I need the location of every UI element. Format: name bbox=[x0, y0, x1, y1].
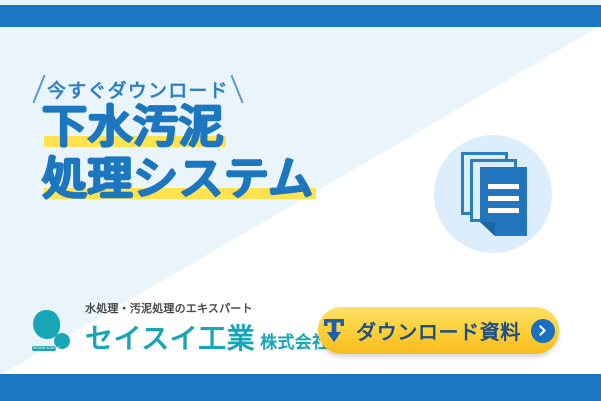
bottom-accent-bar bbox=[0, 374, 601, 401]
stacked-documents-icon bbox=[461, 152, 535, 236]
headline-line-1: 下水汚泥 bbox=[42, 104, 224, 150]
company-logo: SEISUI KOGYO 水処理・汚泥処理のエキスパート セイスイ工業 株式会社 bbox=[30, 300, 329, 357]
company-name-main: セイスイ工業 bbox=[85, 317, 255, 357]
download-banner: 今すぐダウンロード 下水汚泥 処理システム SEISUI KOGYO 水処理・汚… bbox=[0, 0, 601, 401]
logo-company-name: セイスイ工業 株式会社 bbox=[85, 317, 329, 357]
logo-tagline: 水処理・汚泥処理のエキスパート bbox=[85, 300, 329, 316]
logo-mark-caption: SEISUI KOGYO bbox=[33, 346, 60, 351]
logo-text-block: 水処理・汚泥処理のエキスパート セイスイ工業 株式会社 bbox=[85, 300, 329, 357]
headline: 下水汚泥 処理システム bbox=[42, 104, 314, 208]
headline-row-2: 処理システム bbox=[42, 156, 314, 202]
chevron-right-icon bbox=[531, 319, 555, 343]
download-cta-button[interactable]: ダウンロード資料 bbox=[318, 307, 559, 354]
top-accent-bar bbox=[0, 5, 601, 27]
headline-row-1: 下水汚泥 bbox=[42, 104, 224, 150]
eyebrow-label: 今すぐダウンロード bbox=[47, 76, 229, 103]
water-drop-icon: SEISUI KOGYO bbox=[30, 307, 76, 357]
headline-line-2: 処理システム bbox=[42, 156, 314, 202]
cta-label: ダウンロード資料 bbox=[356, 316, 521, 345]
eyebrow-line: 今すぐダウンロード bbox=[38, 74, 238, 104]
chevron-right-glyph bbox=[537, 325, 548, 336]
download-tray-icon bbox=[322, 318, 346, 343]
